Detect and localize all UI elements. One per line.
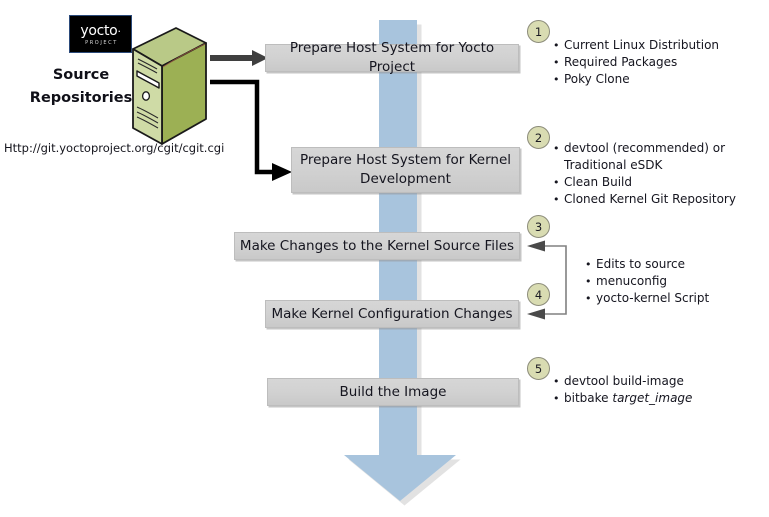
process-box-prepare-host-yocto[interactable]: Prepare Host System for Yocto Project [265, 44, 519, 72]
server-tower-icon [130, 26, 208, 149]
source-label-line2: Repositories [16, 87, 146, 110]
list-item: devtool build-image [552, 373, 692, 390]
list-item: yocto-kernel Script [584, 290, 709, 307]
process-box-2-label-line2: Development [360, 171, 451, 187]
list-item: devtool (recommended) or [552, 140, 736, 157]
list-item: Poky Clone [552, 71, 719, 88]
list-item-continuation: Traditional eSDK [552, 157, 736, 174]
process-box-build-the-image[interactable]: Build the Image [267, 378, 519, 406]
logo-subtitle: PROJECT [85, 40, 118, 47]
logo-wordmark: yocto· [80, 24, 120, 39]
list-item: menuconfig [584, 273, 709, 290]
source-repositories-label: Source Repositories [16, 64, 146, 110]
process-box-5-label: Build the Image [340, 383, 447, 402]
list-item: Required Packages [552, 54, 719, 71]
process-box-prepare-host-kernel[interactable]: Prepare Host System for Kernel Developme… [291, 147, 520, 193]
step-2-bullet-list: devtool (recommended) or Traditional eSD… [552, 140, 736, 208]
diagram-canvas: yocto· PROJECT Source Repositories Http:… [0, 0, 769, 517]
list-item: Cloned Kernel Git Repository [552, 191, 736, 208]
step-1-bullet-list: Current Linux Distribution Required Pack… [552, 37, 719, 88]
source-label-line1: Source [16, 64, 146, 87]
step-number-3-text: 3 [535, 220, 542, 234]
step-number-5-text: 5 [535, 362, 542, 376]
step-number-2: 2 [527, 126, 550, 149]
process-box-make-kernel-source-changes[interactable]: Make Changes to the Kernel Source Files [234, 232, 520, 260]
process-box-2-label: Prepare Host System for Kernel Developme… [300, 151, 511, 189]
list-item: Current Linux Distribution [552, 37, 719, 54]
step-5-bullet-list: devtool build-image bitbake target_image [552, 373, 692, 407]
step-number-1: 1 [527, 20, 550, 43]
step-number-4-text: 4 [535, 288, 542, 302]
step-number-5: 5 [527, 357, 550, 380]
process-box-2-label-line1: Prepare Host System for Kernel [300, 152, 511, 168]
process-box-1-label: Prepare Host System for Yocto Project [266, 39, 518, 77]
connector-feedback-loop [527, 241, 566, 320]
connector-server-to-step2 [210, 82, 292, 181]
step-number-3: 3 [527, 215, 550, 238]
process-box-make-kernel-config-changes[interactable]: Make Kernel Configuration Changes [265, 300, 519, 328]
step-3-4-bullet-list: Edits to source menuconfig yocto-kernel … [584, 256, 709, 307]
process-box-3-label: Make Changes to the Kernel Source Files [240, 237, 514, 256]
list-item: bitbake target_image [552, 390, 692, 407]
list-item: Clean Build [552, 174, 736, 191]
step-number-4: 4 [527, 283, 550, 306]
step-number-2-text: 2 [535, 131, 542, 145]
process-box-4-label: Make Kernel Configuration Changes [271, 305, 512, 324]
connector-server-to-step1 [210, 50, 268, 66]
flow-arrow-shape [344, 20, 456, 501]
yocto-project-logo: yocto· PROJECT [69, 15, 132, 53]
step-number-1-text: 1 [535, 25, 542, 39]
list-item: Edits to source [584, 256, 709, 273]
